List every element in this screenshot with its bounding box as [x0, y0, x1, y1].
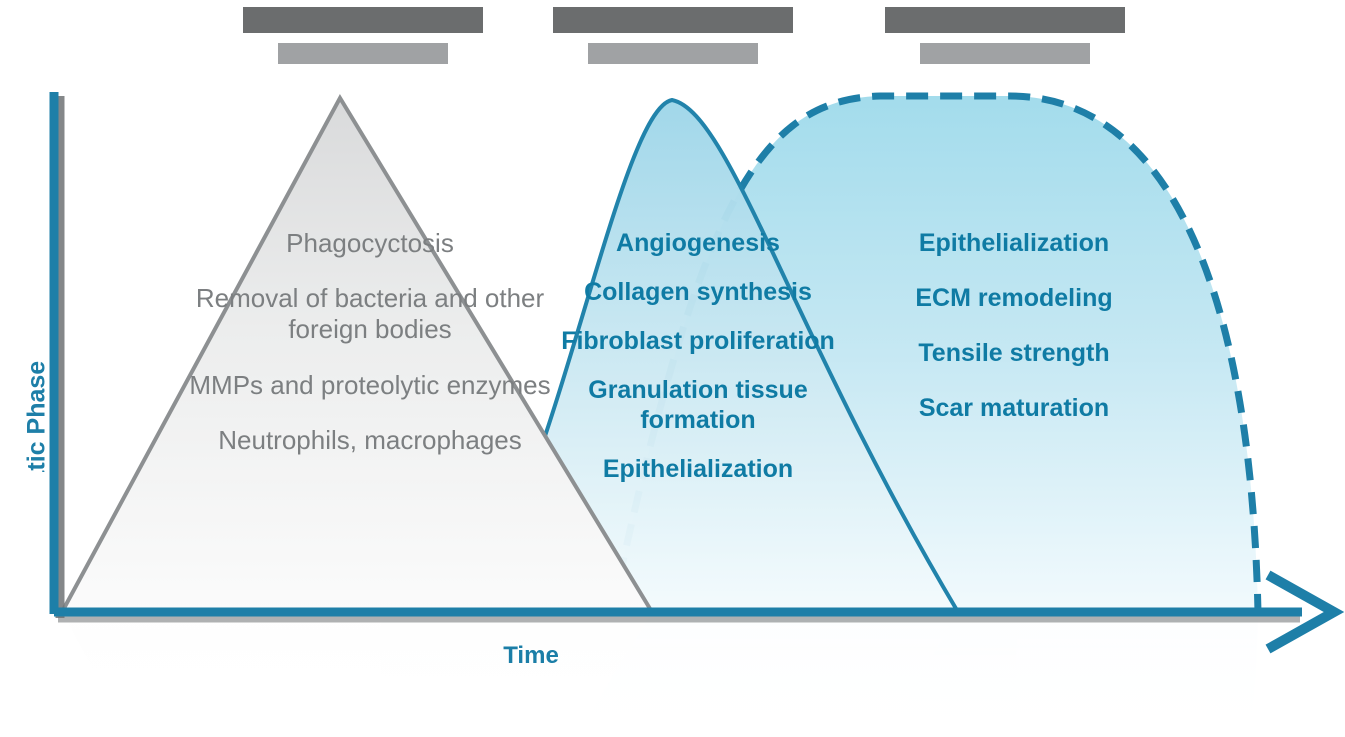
column-inflammatory: Phagocyctosis Removal of bacteria and ot… — [170, 228, 570, 480]
list-item: Removal of bacteria and other foreign bo… — [170, 283, 570, 345]
phase-header-proliferative-sub: PHASE — [548, 39, 798, 66]
reflection-fade — [0, 612, 1345, 737]
list-item: Collagen synthesis — [548, 277, 848, 307]
list-item: ECM remodeling — [878, 283, 1150, 313]
list-item: Angiogenesis — [548, 228, 848, 258]
y-axis-label: Hemostatic Phase — [23, 354, 47, 473]
wound-healing-diagram: Inflammatory PHASE Proliferative PHASE R… — [0, 0, 1345, 737]
y-axis-label-clip: Hemostatic Phase — [0, 222, 46, 472]
list-item: Neutrophils, macrophages — [170, 425, 570, 456]
phase-header-inflammatory-sub: PHASE — [238, 39, 488, 66]
list-item: MMPs and proteolytic enzymes — [170, 370, 570, 401]
list-item: Epithelialization — [878, 228, 1150, 258]
list-item: Granulation tissue formation — [548, 375, 848, 435]
column-proliferative: Angiogenesis Collagen synthesis Fibrobla… — [548, 228, 848, 503]
column-remodeling: Epithelialization ECM remodeling Tensile… — [878, 228, 1150, 448]
phase-header-remodeling-sub: PHASE — [880, 39, 1130, 66]
list-item: Tensile strength — [878, 338, 1150, 368]
x-axis-label: Time — [468, 642, 594, 670]
list-item: Phagocyctosis — [170, 228, 570, 259]
phase-header-proliferative-name: Proliferative — [548, 2, 798, 35]
phase-header-inflammatory: Inflammatory PHASE — [238, 2, 488, 66]
list-item: Scar maturation — [878, 393, 1150, 423]
list-item: Epithelialization — [548, 454, 848, 484]
phase-header-inflammatory-name: Inflammatory — [238, 2, 488, 35]
phase-header-proliferative: Proliferative PHASE — [548, 2, 798, 66]
phase-header-remodeling: Remodeling PHASE — [880, 2, 1130, 66]
phase-header-remodeling-name: Remodeling — [880, 2, 1130, 35]
list-item: Fibroblast proliferation — [548, 326, 848, 356]
